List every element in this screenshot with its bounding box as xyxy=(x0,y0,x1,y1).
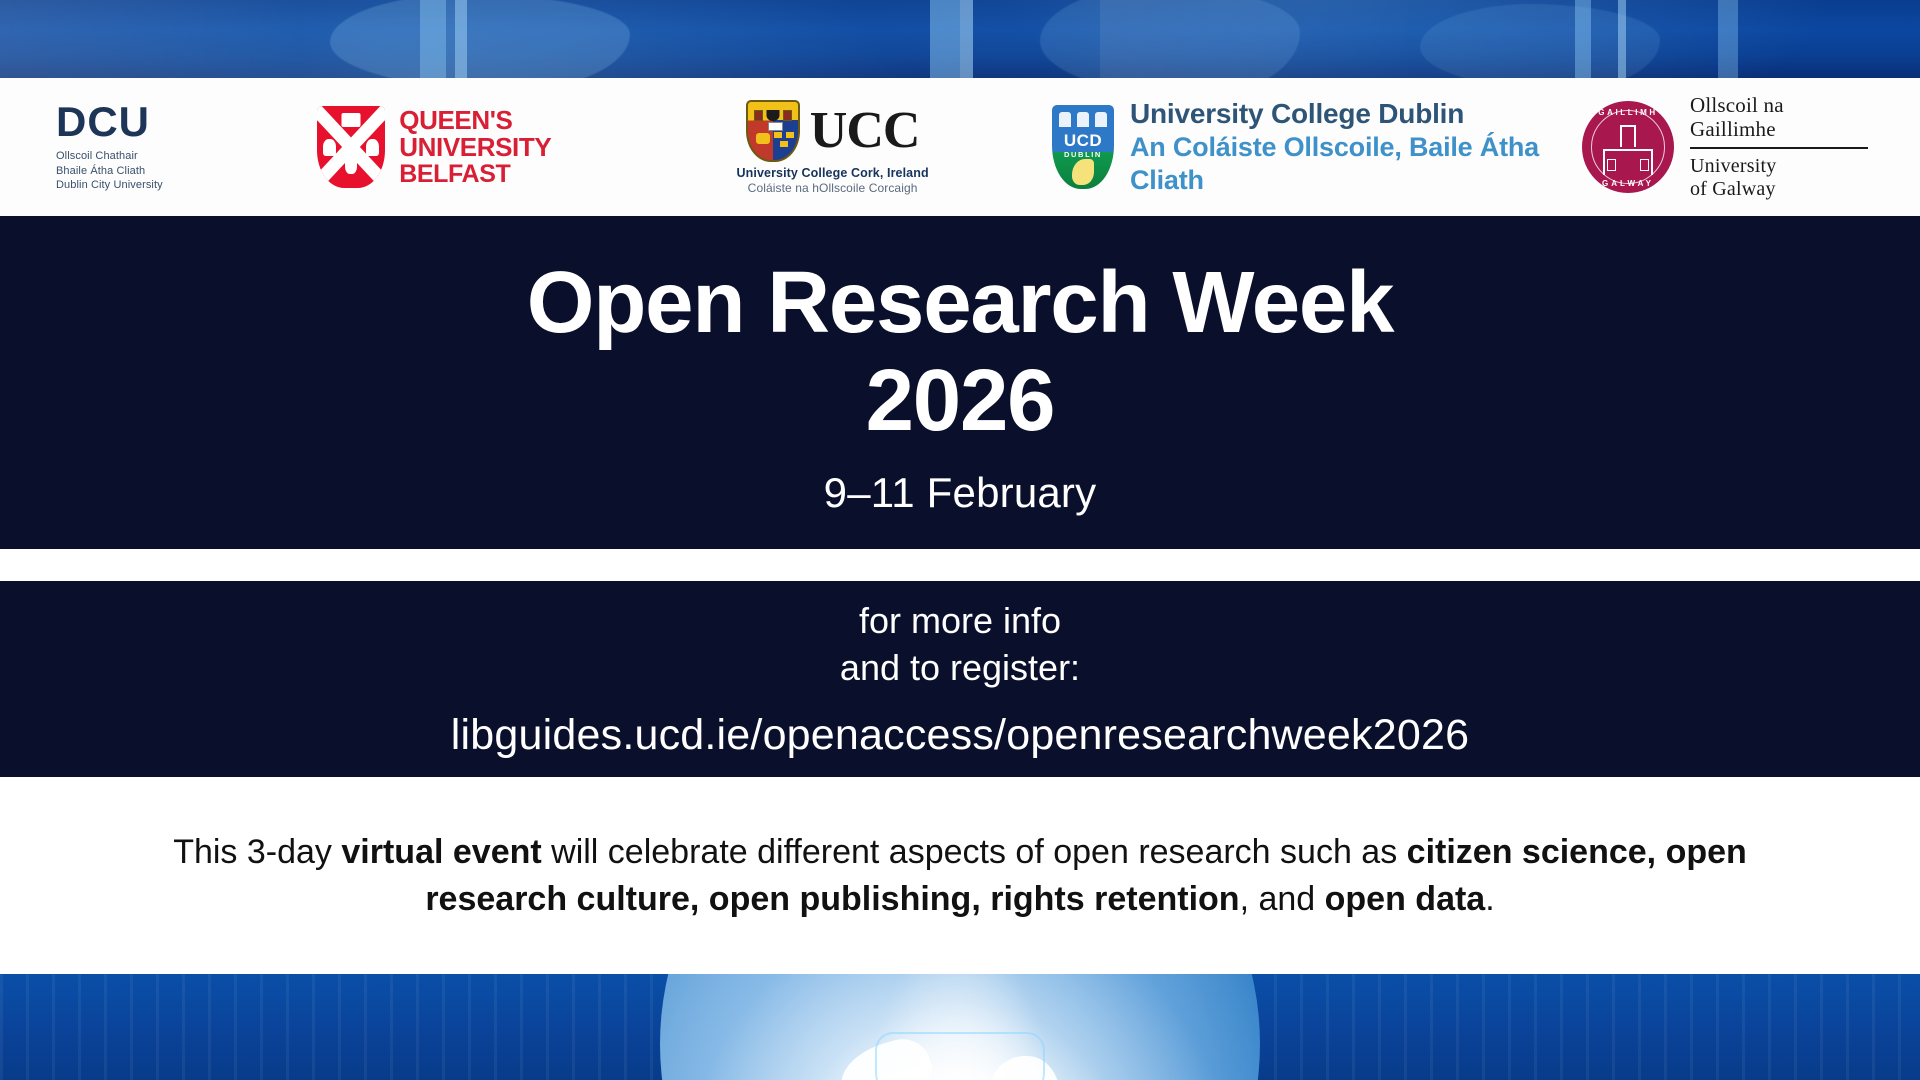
desc-part-1: This 3-day xyxy=(173,833,341,871)
logo-dcu: DCU Ollscoil Chathair Bhaile Átha Cliath… xyxy=(56,101,241,193)
queens-shield-icon xyxy=(317,106,385,188)
qub-line-2: UNIVERSITY xyxy=(399,134,551,161)
galway-seal-icon: GAILLIMH GALWAY xyxy=(1582,101,1674,193)
ucd-line-2: An Coláiste Ollscoile, Baile Átha Cliath xyxy=(1130,131,1562,197)
banner-streak xyxy=(1718,0,1738,78)
dcu-subline-2: Bhaile Átha Cliath xyxy=(56,164,163,179)
dcu-subline-1: Ollscoil Chathair xyxy=(56,149,163,164)
galway-irish-line-1: Ollscoil na xyxy=(1690,93,1784,117)
galway-irish-line-2: Gaillimhe xyxy=(1690,117,1776,141)
ucd-shield-text: UCD xyxy=(1052,131,1114,151)
qub-line-3: BELFAST xyxy=(399,161,551,187)
registration-block: for more info and to register: libguides… xyxy=(0,581,1920,777)
desc-part-2: will celebrate different aspects of open… xyxy=(542,833,1407,871)
bottom-globe-graphic xyxy=(0,974,1920,1080)
register-lead-line-2: and to register: xyxy=(840,645,1080,691)
ucc-subline-1: University College Cork, Ireland xyxy=(737,166,929,180)
banner-streak xyxy=(930,0,960,78)
desc-part-3: , and xyxy=(1240,880,1325,918)
banner-streak xyxy=(1618,0,1626,78)
ucd-line-1: University College Dublin xyxy=(1130,97,1562,131)
banner-shade xyxy=(1100,0,1420,78)
ucc-crest-icon xyxy=(746,100,800,162)
globe-arc-accent xyxy=(875,1032,1045,1080)
description-block: This 3-day virtual event will celebrate … xyxy=(0,777,1920,974)
galway-seal-top-text: GAILLIMH xyxy=(1582,108,1674,117)
harp-icon xyxy=(1072,159,1094,185)
galway-english-line-2: of Galway xyxy=(1690,178,1776,200)
description-text: This 3-day virtual event will celebrate … xyxy=(110,829,1810,923)
logo-ucd: UCD DUBLIN University College Dublin An … xyxy=(1052,97,1562,197)
register-lead-line-1: for more info xyxy=(840,598,1080,644)
logo-ucc: UCC University College Cork, Ireland Col… xyxy=(718,100,948,195)
dcu-subline-3: Dublin City University xyxy=(56,178,163,193)
title-line-2: 2026 xyxy=(527,352,1394,449)
ucc-wordmark: UCC xyxy=(810,105,920,157)
registration-url[interactable]: libguides.ucd.ie/openaccess/openresearch… xyxy=(451,711,1469,760)
top-banner-graphic xyxy=(0,0,1920,78)
university-logo-strip: DCU Ollscoil Chathair Bhaile Átha Cliath… xyxy=(0,78,1920,216)
ucc-subline-2: Coláiste na hOllscoile Corcaigh xyxy=(748,181,918,195)
banner-streak xyxy=(1575,0,1591,78)
banner-streak xyxy=(420,0,446,78)
desc-bold-1: virtual event xyxy=(341,833,541,871)
ucd-shield-icon: UCD DUBLIN xyxy=(1052,105,1114,189)
open-research-week-poster: DCU Ollscoil Chathair Bhaile Átha Cliath… xyxy=(0,0,1920,1080)
section-divider xyxy=(0,549,1920,581)
galway-seal-bottom-text: GALWAY xyxy=(1582,179,1674,188)
logo-queens-university-belfast: QUEEN'S UNIVERSITY BELFAST xyxy=(317,106,617,188)
banner-streak xyxy=(960,0,973,78)
galway-english-line-1: University xyxy=(1690,155,1776,177)
dcu-wordmark: DCU xyxy=(56,101,150,143)
title-block: Open Research Week 2026 9–11 February xyxy=(0,216,1920,549)
galway-divider xyxy=(1690,147,1868,149)
title-line-1: Open Research Week xyxy=(527,254,1394,351)
event-dates: 9–11 February xyxy=(824,469,1097,517)
banner-streak xyxy=(455,0,467,78)
desc-part-4: . xyxy=(1485,880,1494,918)
banner-map-shape xyxy=(330,0,630,78)
page-title: Open Research Week 2026 xyxy=(527,254,1394,449)
ucd-shield-subtext: DUBLIN xyxy=(1052,150,1114,159)
qub-line-1: QUEEN'S xyxy=(399,107,551,134)
desc-bold-3: open data xyxy=(1325,880,1486,918)
logo-university-of-galway: GAILLIMH GALWAY Ollscoil na Gaillimhe Un… xyxy=(1582,93,1868,202)
banner-shade xyxy=(0,0,300,78)
